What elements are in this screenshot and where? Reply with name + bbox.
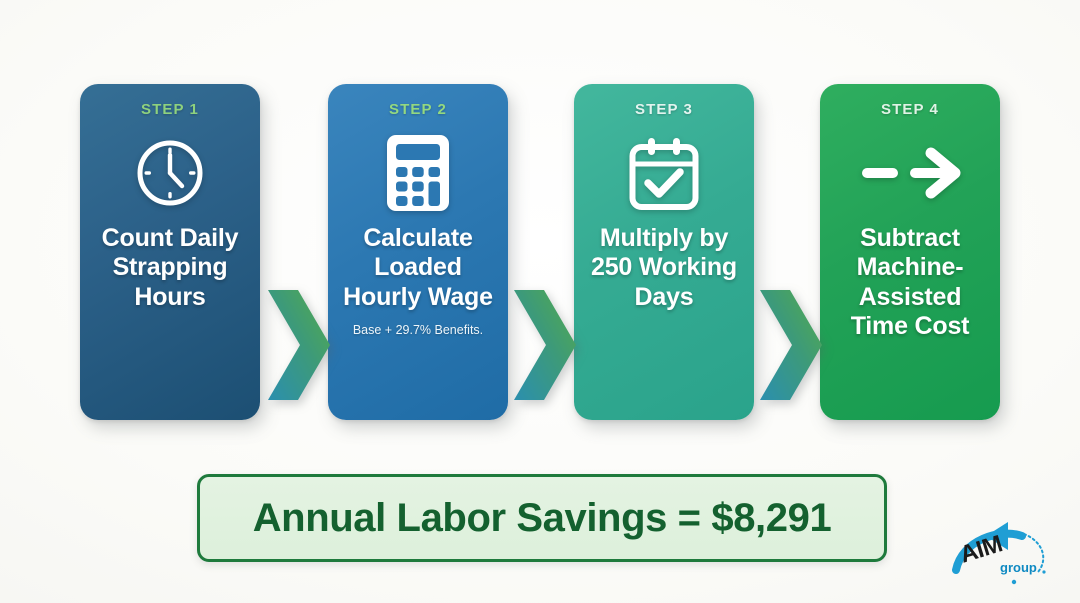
minus-arrow-right-icon bbox=[858, 130, 962, 216]
chevron-right-icon-3 bbox=[760, 290, 822, 400]
step-card-4[interactable]: STEP 4 Subtract Machine-Assisted Time Co… bbox=[820, 84, 1000, 420]
chevron-right-icon-1 bbox=[268, 290, 330, 400]
steps-row: STEP 1 Count Daily Strapping Hours STEP … bbox=[0, 84, 1080, 420]
calculator-icon bbox=[385, 130, 451, 216]
step-card-3[interactable]: STEP 3 Multiply by 250 Working Days bbox=[574, 84, 754, 420]
infographic-canvas: STEP 1 Count Daily Strapping Hours STEP … bbox=[0, 0, 1080, 603]
step-label-2: STEP 2 bbox=[389, 101, 447, 118]
result-banner-text: Annual Labor Savings = $8,291 bbox=[253, 496, 832, 541]
clock-icon bbox=[131, 130, 209, 216]
step-title-1: Count Daily Strapping Hours bbox=[80, 224, 260, 312]
step-card-1[interactable]: STEP 1 Count Daily Strapping Hours bbox=[80, 84, 260, 420]
chevron-right-icon-2 bbox=[514, 290, 576, 400]
step-label-4: STEP 4 bbox=[881, 101, 939, 118]
calendar-check-icon bbox=[626, 130, 702, 216]
step-label-1: STEP 1 bbox=[141, 101, 199, 118]
step-subtext-2: Base + 29.7% Benefits. bbox=[347, 323, 489, 337]
step-title-4: Subtract Machine-Assisted Time Cost bbox=[820, 224, 1000, 341]
logo-subtitle: group bbox=[1000, 560, 1037, 575]
logo[interactable]: AIM group bbox=[952, 520, 1066, 590]
result-banner: Annual Labor Savings = $8,291 bbox=[197, 474, 887, 562]
step-card-2[interactable]: STEP 2 Calculate Loaded Hourly Wage Base… bbox=[328, 84, 508, 420]
step-title-3: Multiply by 250 Working Days bbox=[574, 224, 754, 312]
step-label-3: STEP 3 bbox=[635, 101, 693, 118]
step-title-2: Calculate Loaded Hourly Wage bbox=[328, 224, 508, 312]
